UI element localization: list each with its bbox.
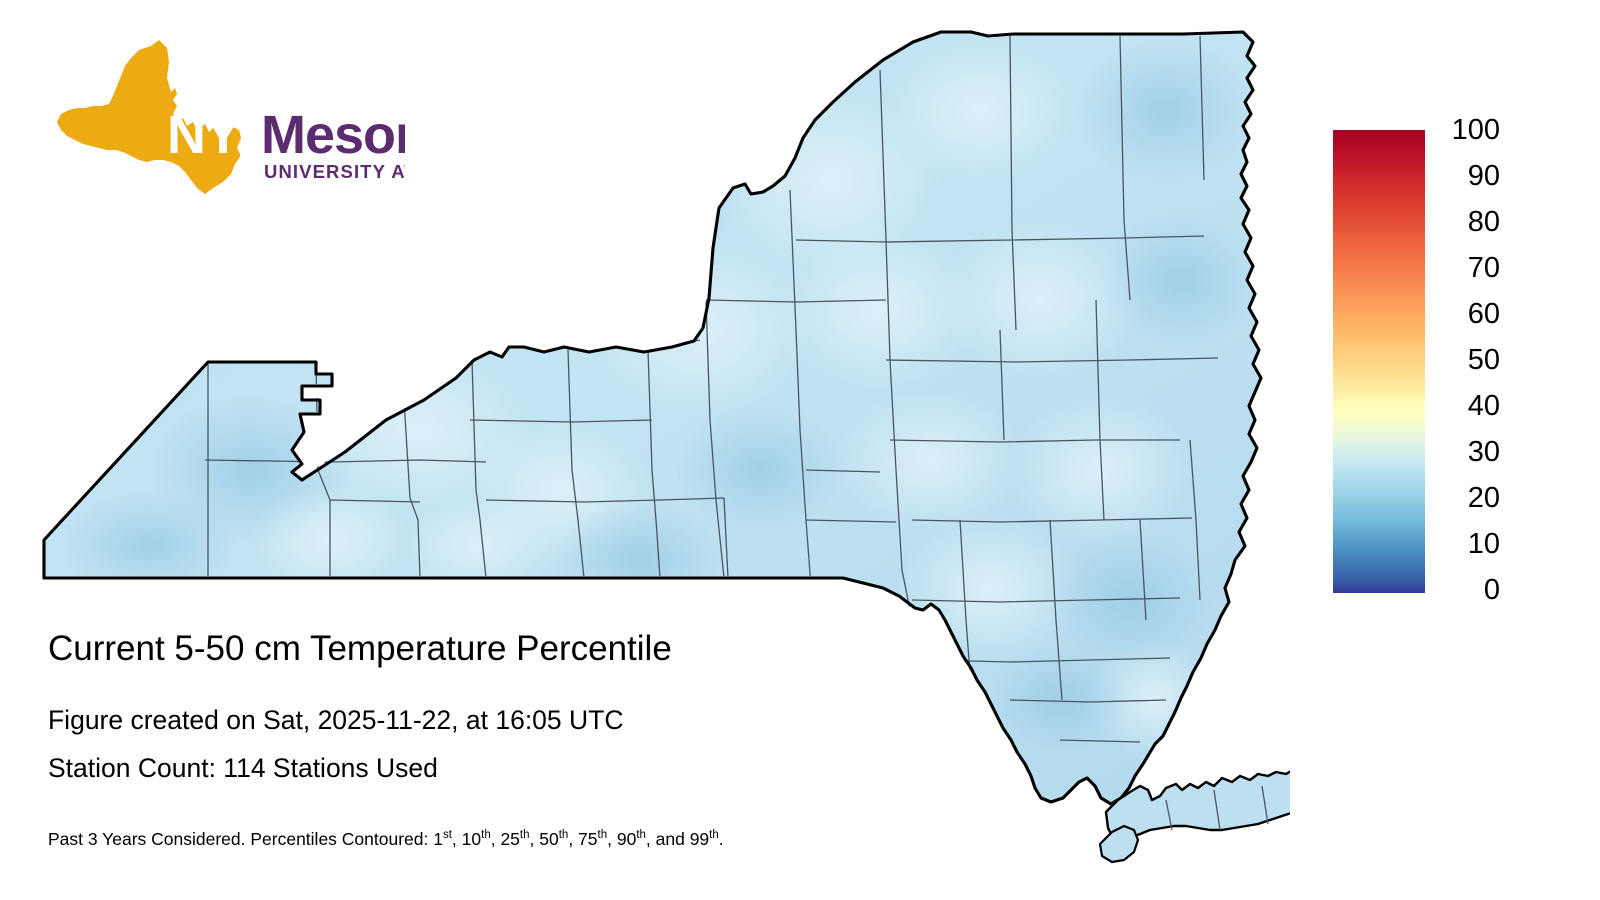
figure-created-timestamp: Figure created on Sat, 2025-11-22, at 16… xyxy=(48,704,623,736)
colorbar-tick-80: 80 xyxy=(1433,208,1500,237)
colorbar-tick-100: 100 xyxy=(1433,116,1500,145)
colorbar-tick-20: 20 xyxy=(1433,484,1500,513)
footnote-percentile-levels: Past 3 Years Considered. Percentiles Con… xyxy=(48,828,724,850)
colorbar-tick-70: 70 xyxy=(1433,254,1500,283)
station-count-label: Station Count: 114 Stations Used xyxy=(48,752,438,784)
footnote-ordinals: 1st, 10th, 25th, 50th, 75th, 90th, and 9… xyxy=(433,829,723,849)
colorbar-gradient xyxy=(1333,130,1425,593)
colorbar-tick-60: 60 xyxy=(1433,300,1500,329)
nys-mesonet-logo: NYS Mesonet UNIVERSITY AT ALBANY xyxy=(55,38,405,198)
staten-island xyxy=(1100,826,1138,862)
colorbar-tick-0: 0 xyxy=(1433,576,1500,605)
colorbar-tick-90: 90 xyxy=(1433,162,1500,191)
colorbar xyxy=(1333,130,1425,593)
colorbar-tick-10: 10 xyxy=(1433,530,1500,559)
page-title: Current 5-50 cm Temperature Percentile xyxy=(48,628,672,670)
footnote-prefix: Past 3 Years Considered. Percentiles Con… xyxy=(48,829,433,849)
logo-mesonet-text: Mesonet xyxy=(261,105,405,165)
colorbar-tick-labels: 100 90 80 70 60 50 40 30 20 10 0 xyxy=(1433,110,1553,620)
logo-subtitle-text: UNIVERSITY AT ALBANY xyxy=(264,161,405,182)
colorbar-tick-30: 30 xyxy=(1433,438,1500,467)
colorbar-tick-40: 40 xyxy=(1433,392,1500,421)
colorbar-tick-50: 50 xyxy=(1433,346,1500,375)
